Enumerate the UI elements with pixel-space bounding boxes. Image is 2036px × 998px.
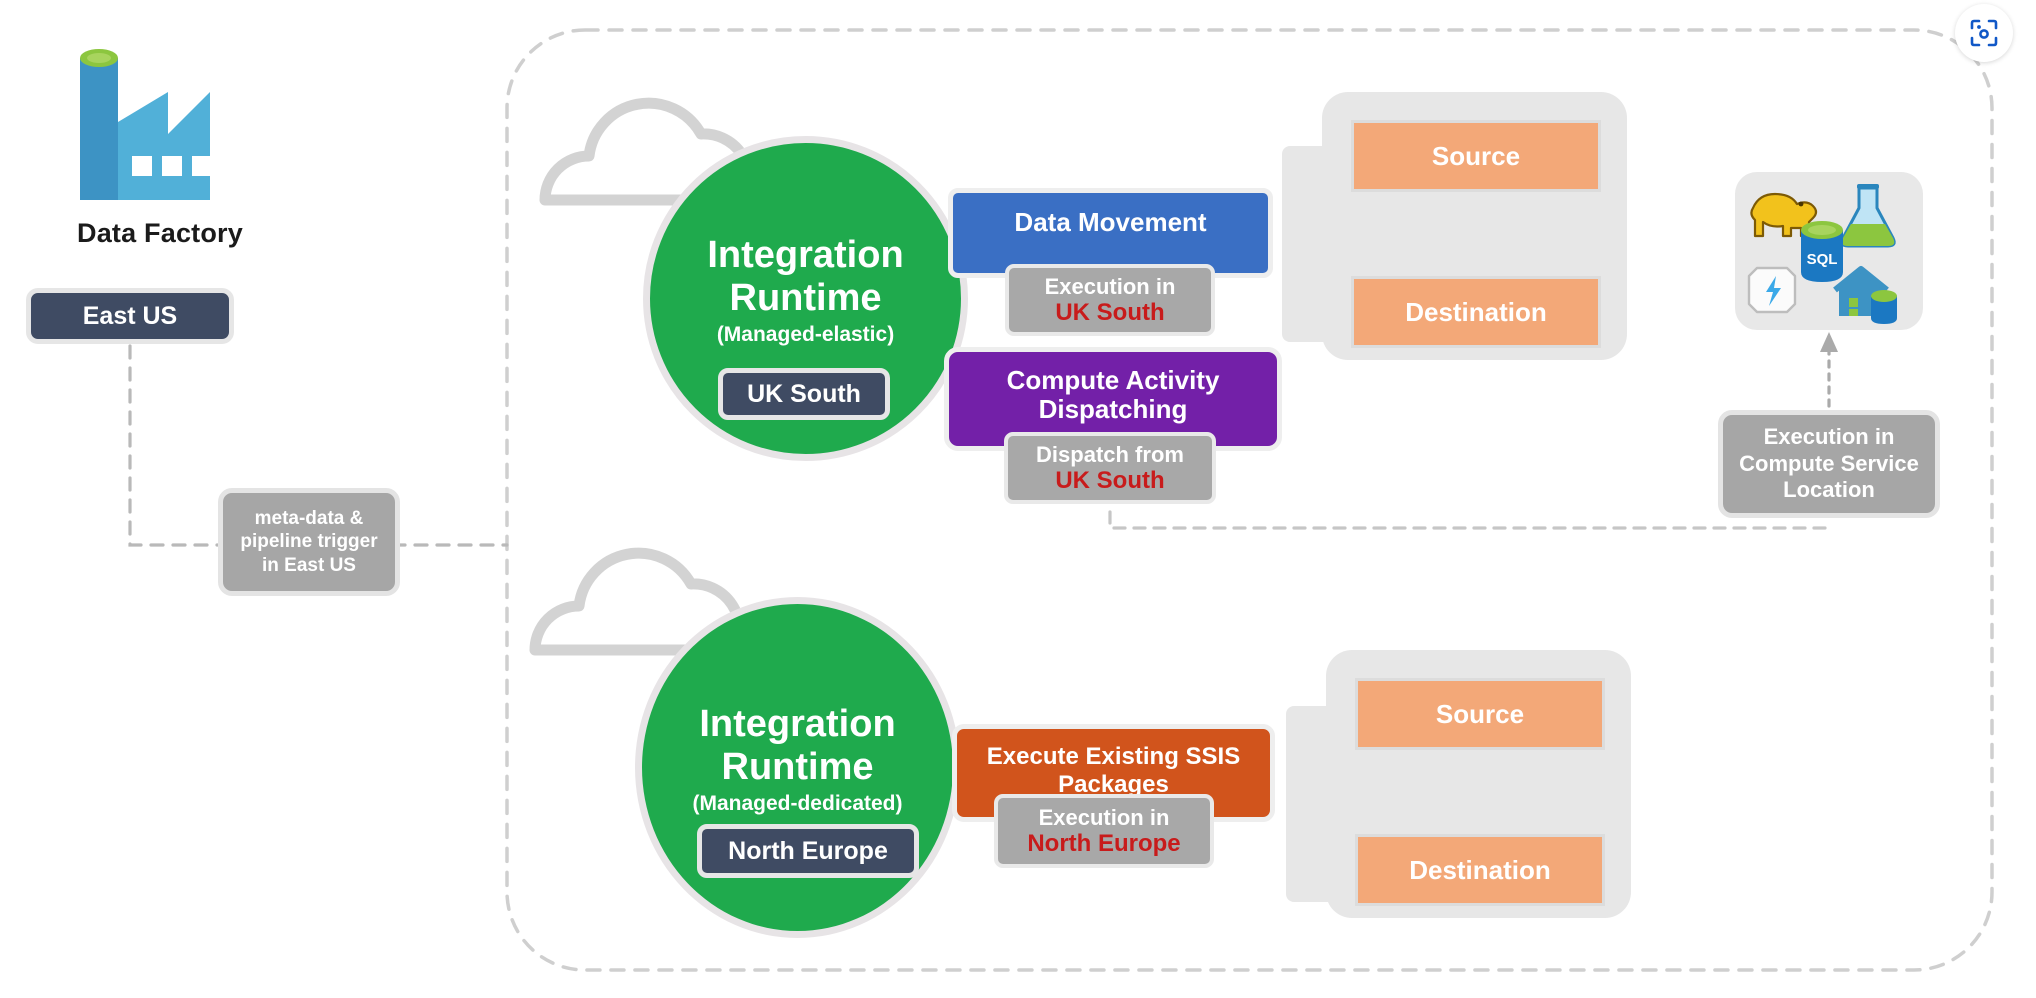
- region-pill-east-us[interactable]: East US: [26, 288, 234, 344]
- execution-badge-data-movement: Execution in UK South: [1005, 264, 1215, 336]
- compute-services-icons: SQL: [1735, 172, 1923, 330]
- data-factory-label: Data Factory: [40, 218, 280, 249]
- execution-badge-dispatch: Dispatch from UK South: [1004, 432, 1216, 504]
- ssis-region-line2: North Europe: [1027, 830, 1180, 857]
- factory-icon: [58, 30, 228, 205]
- dataset-source-bottom[interactable]: Source: [1355, 678, 1605, 750]
- note-compute-service-location: Execution in Compute Service Location: [1718, 410, 1940, 518]
- note-meta-data-pipeline-trigger: meta-data & pipeline trigger in East US: [218, 488, 400, 596]
- dispatch-label-line1: Dispatch from: [1036, 442, 1184, 467]
- data-warehouse-icon: [1835, 269, 1897, 324]
- dataset-source-top[interactable]: Source: [1351, 120, 1601, 192]
- visual-search-button[interactable]: [1955, 4, 2013, 62]
- svg-text:SQL: SQL: [1807, 251, 1838, 268]
- runtime2-title-line1: Integration: [699, 703, 895, 746]
- dataset-destination-top[interactable]: Destination: [1351, 276, 1601, 348]
- sql-database-icon: SQL: [1801, 221, 1843, 282]
- runtime2-title-line2: Runtime: [722, 746, 874, 789]
- runtime2-subtitle: (Managed-dedicated): [692, 792, 902, 816]
- runtime-subtitle: (Managed-elastic): [717, 323, 894, 347]
- region-pill-north-europe[interactable]: North Europe: [697, 824, 919, 878]
- runtime-title-line2: Runtime: [730, 277, 882, 320]
- dataset-destination-bottom[interactable]: Destination: [1355, 834, 1605, 906]
- scan-lens-icon: [1968, 17, 2000, 49]
- flask-icon: [1842, 184, 1894, 246]
- diagram-canvas: Data Factory East US meta-data & pipelin…: [0, 0, 2036, 998]
- ssis-label-line1: Execution in: [1039, 805, 1170, 830]
- lightning-bolt-icon: [1749, 268, 1795, 312]
- dispatch-region-line2: UK South: [1055, 467, 1164, 494]
- execution-region-line2: UK South: [1055, 299, 1164, 326]
- runtime-title-line1: Integration: [707, 234, 903, 277]
- region-pill-uk-south[interactable]: UK South: [718, 368, 890, 420]
- arrow-to-compute-services: [1820, 332, 1838, 406]
- execution-label-line1: Execution in: [1045, 274, 1176, 299]
- execution-badge-ssis: Execution in North Europe: [994, 794, 1214, 868]
- integration-runtime-managed-dedicated[interactable]: Integration Runtime (Managed-dedicated): [635, 597, 960, 938]
